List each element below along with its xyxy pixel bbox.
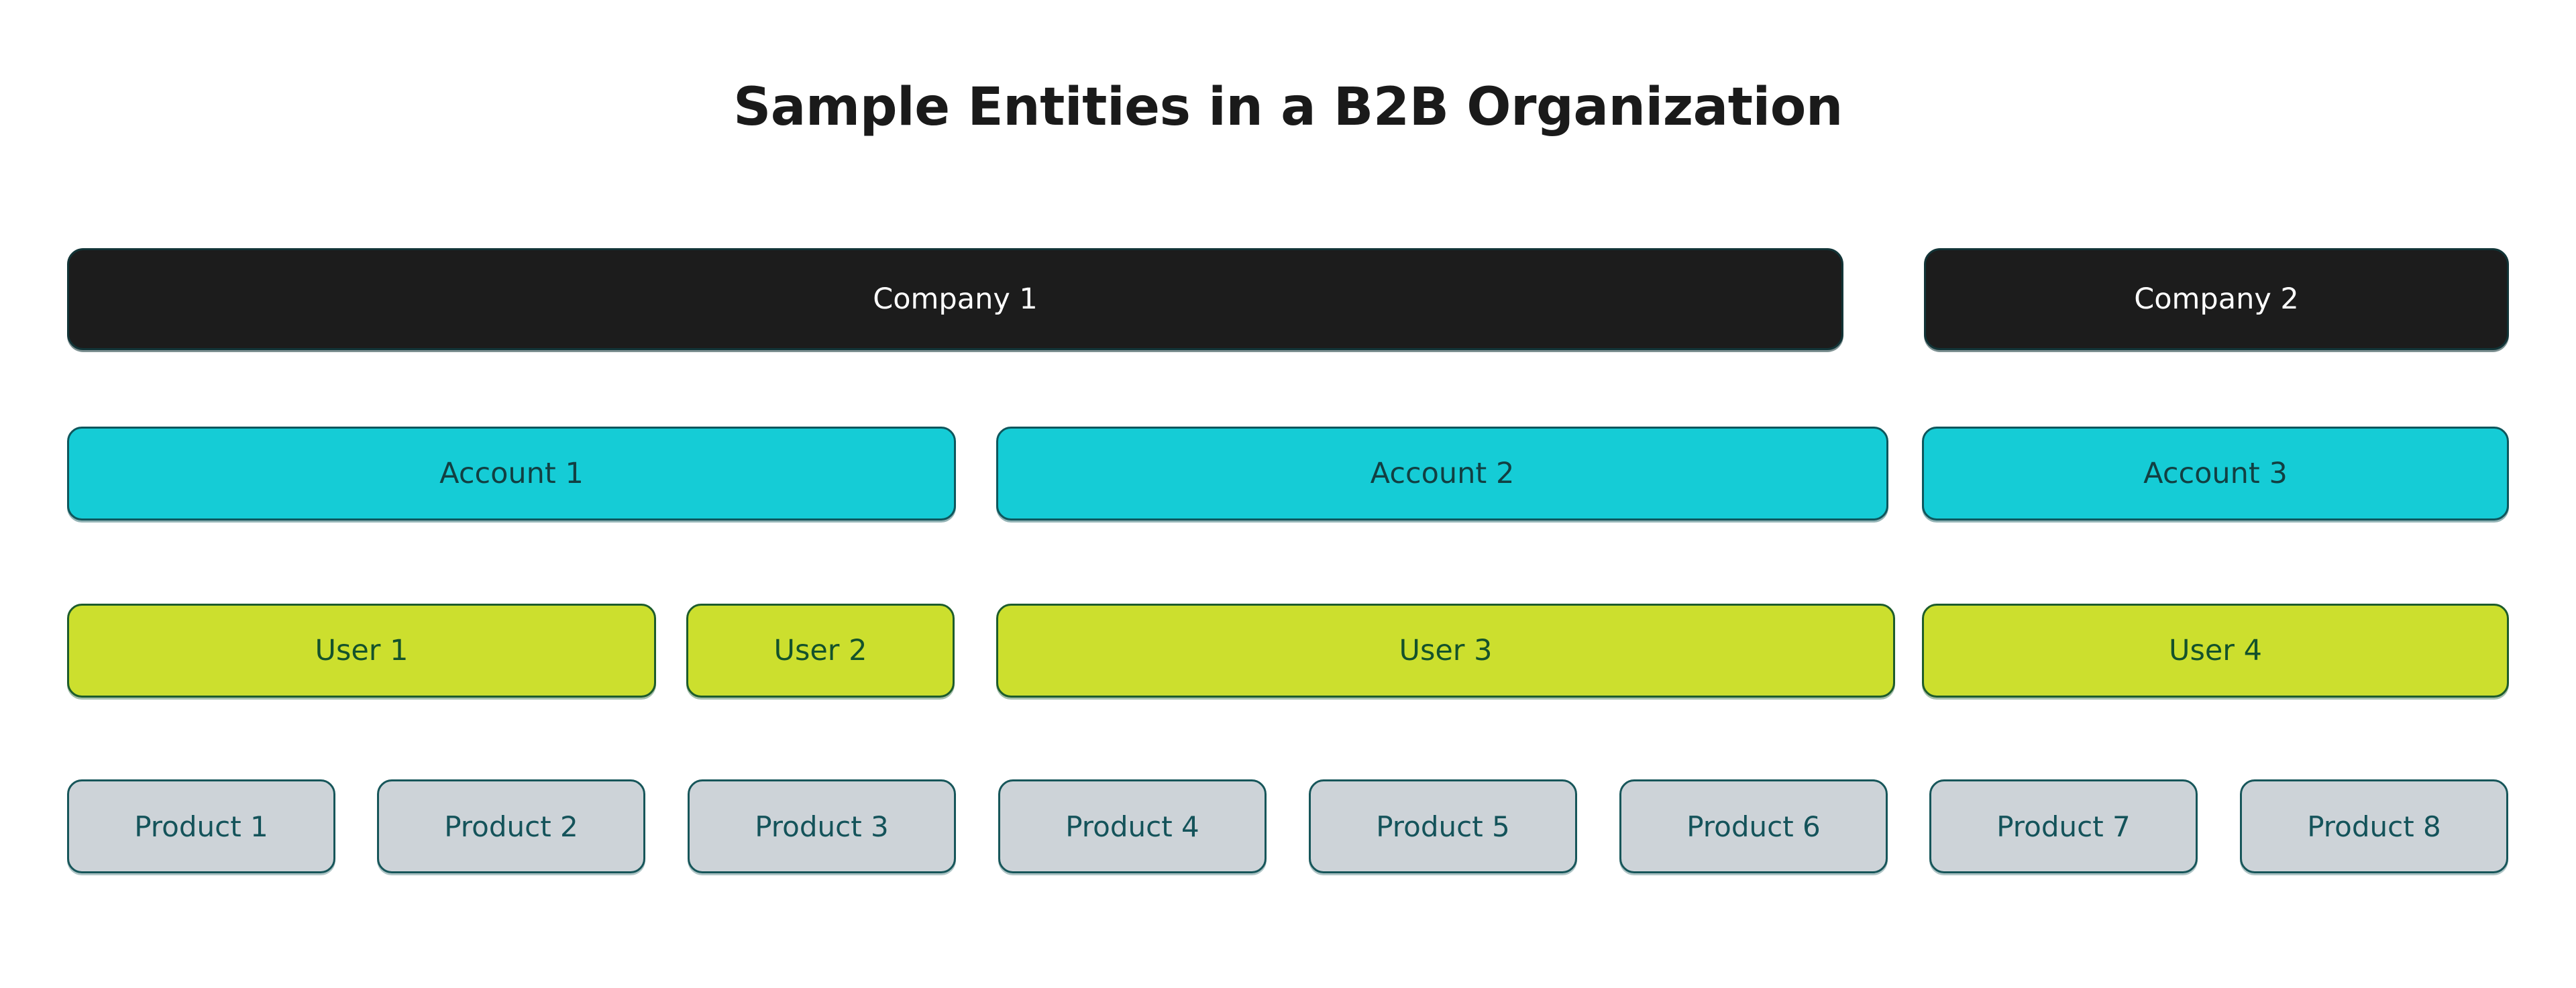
user-node-3[interactable]: User 3 [996,604,1895,698]
account-node-1-label: Account 1 [439,457,584,490]
user-row: User 1 User 2 User 3 User 4 [67,604,2509,698]
product-node-8-label: Product 8 [2307,810,2441,843]
product-node-1[interactable]: Product 1 [67,779,335,873]
product-node-7-label: Product 7 [1996,810,2131,843]
product-node-1-label: Product 1 [134,810,268,843]
product-node-5-label: Product 5 [1376,810,1510,843]
company-node-1-label: Company 1 [873,282,1038,316]
page-title: Sample Entities in a B2B Organization [0,79,2576,137]
product-node-6-label: Product 6 [1686,810,1821,843]
company-row: Company 1 Company 2 [67,248,2509,350]
product-node-7[interactable]: Product 7 [1929,779,2198,873]
product-node-2-label: Product 2 [444,810,578,843]
user-node-3-label: User 3 [1399,634,1492,667]
product-node-8[interactable]: Product 8 [2240,779,2508,873]
product-node-5[interactable]: Product 5 [1309,779,1577,873]
product-node-4-label: Product 4 [1065,810,1199,843]
user-node-1-label: User 1 [315,634,408,667]
account-node-2[interactable]: Account 2 [996,427,1888,520]
company-node-2-label: Company 2 [2134,282,2299,316]
user-node-2-label: User 2 [773,634,867,667]
diagram-canvas: Sample Entities in a B2B Organization Co… [0,0,2576,988]
product-node-3[interactable]: Product 3 [688,779,956,873]
product-node-4[interactable]: Product 4 [998,779,1267,873]
user-node-1[interactable]: User 1 [67,604,656,698]
product-row: Product 1 Product 2 Product 3 Product 4 … [67,777,2509,876]
account-node-3[interactable]: Account 3 [1922,427,2509,520]
company-node-1[interactable]: Company 1 [67,248,1843,350]
product-node-3-label: Product 3 [755,810,889,843]
user-node-4[interactable]: User 4 [1922,604,2509,698]
account-node-2-label: Account 2 [1371,457,1515,490]
account-row: Account 1 Account 2 Account 3 [67,427,2509,520]
product-node-6[interactable]: Product 6 [1619,779,1888,873]
user-node-2[interactable]: User 2 [686,604,955,698]
user-node-4-label: User 4 [2169,634,2262,667]
product-node-2[interactable]: Product 2 [377,779,645,873]
account-node-3-label: Account 3 [2143,457,2288,490]
account-node-1[interactable]: Account 1 [67,427,956,520]
company-node-2[interactable]: Company 2 [1924,248,2509,350]
